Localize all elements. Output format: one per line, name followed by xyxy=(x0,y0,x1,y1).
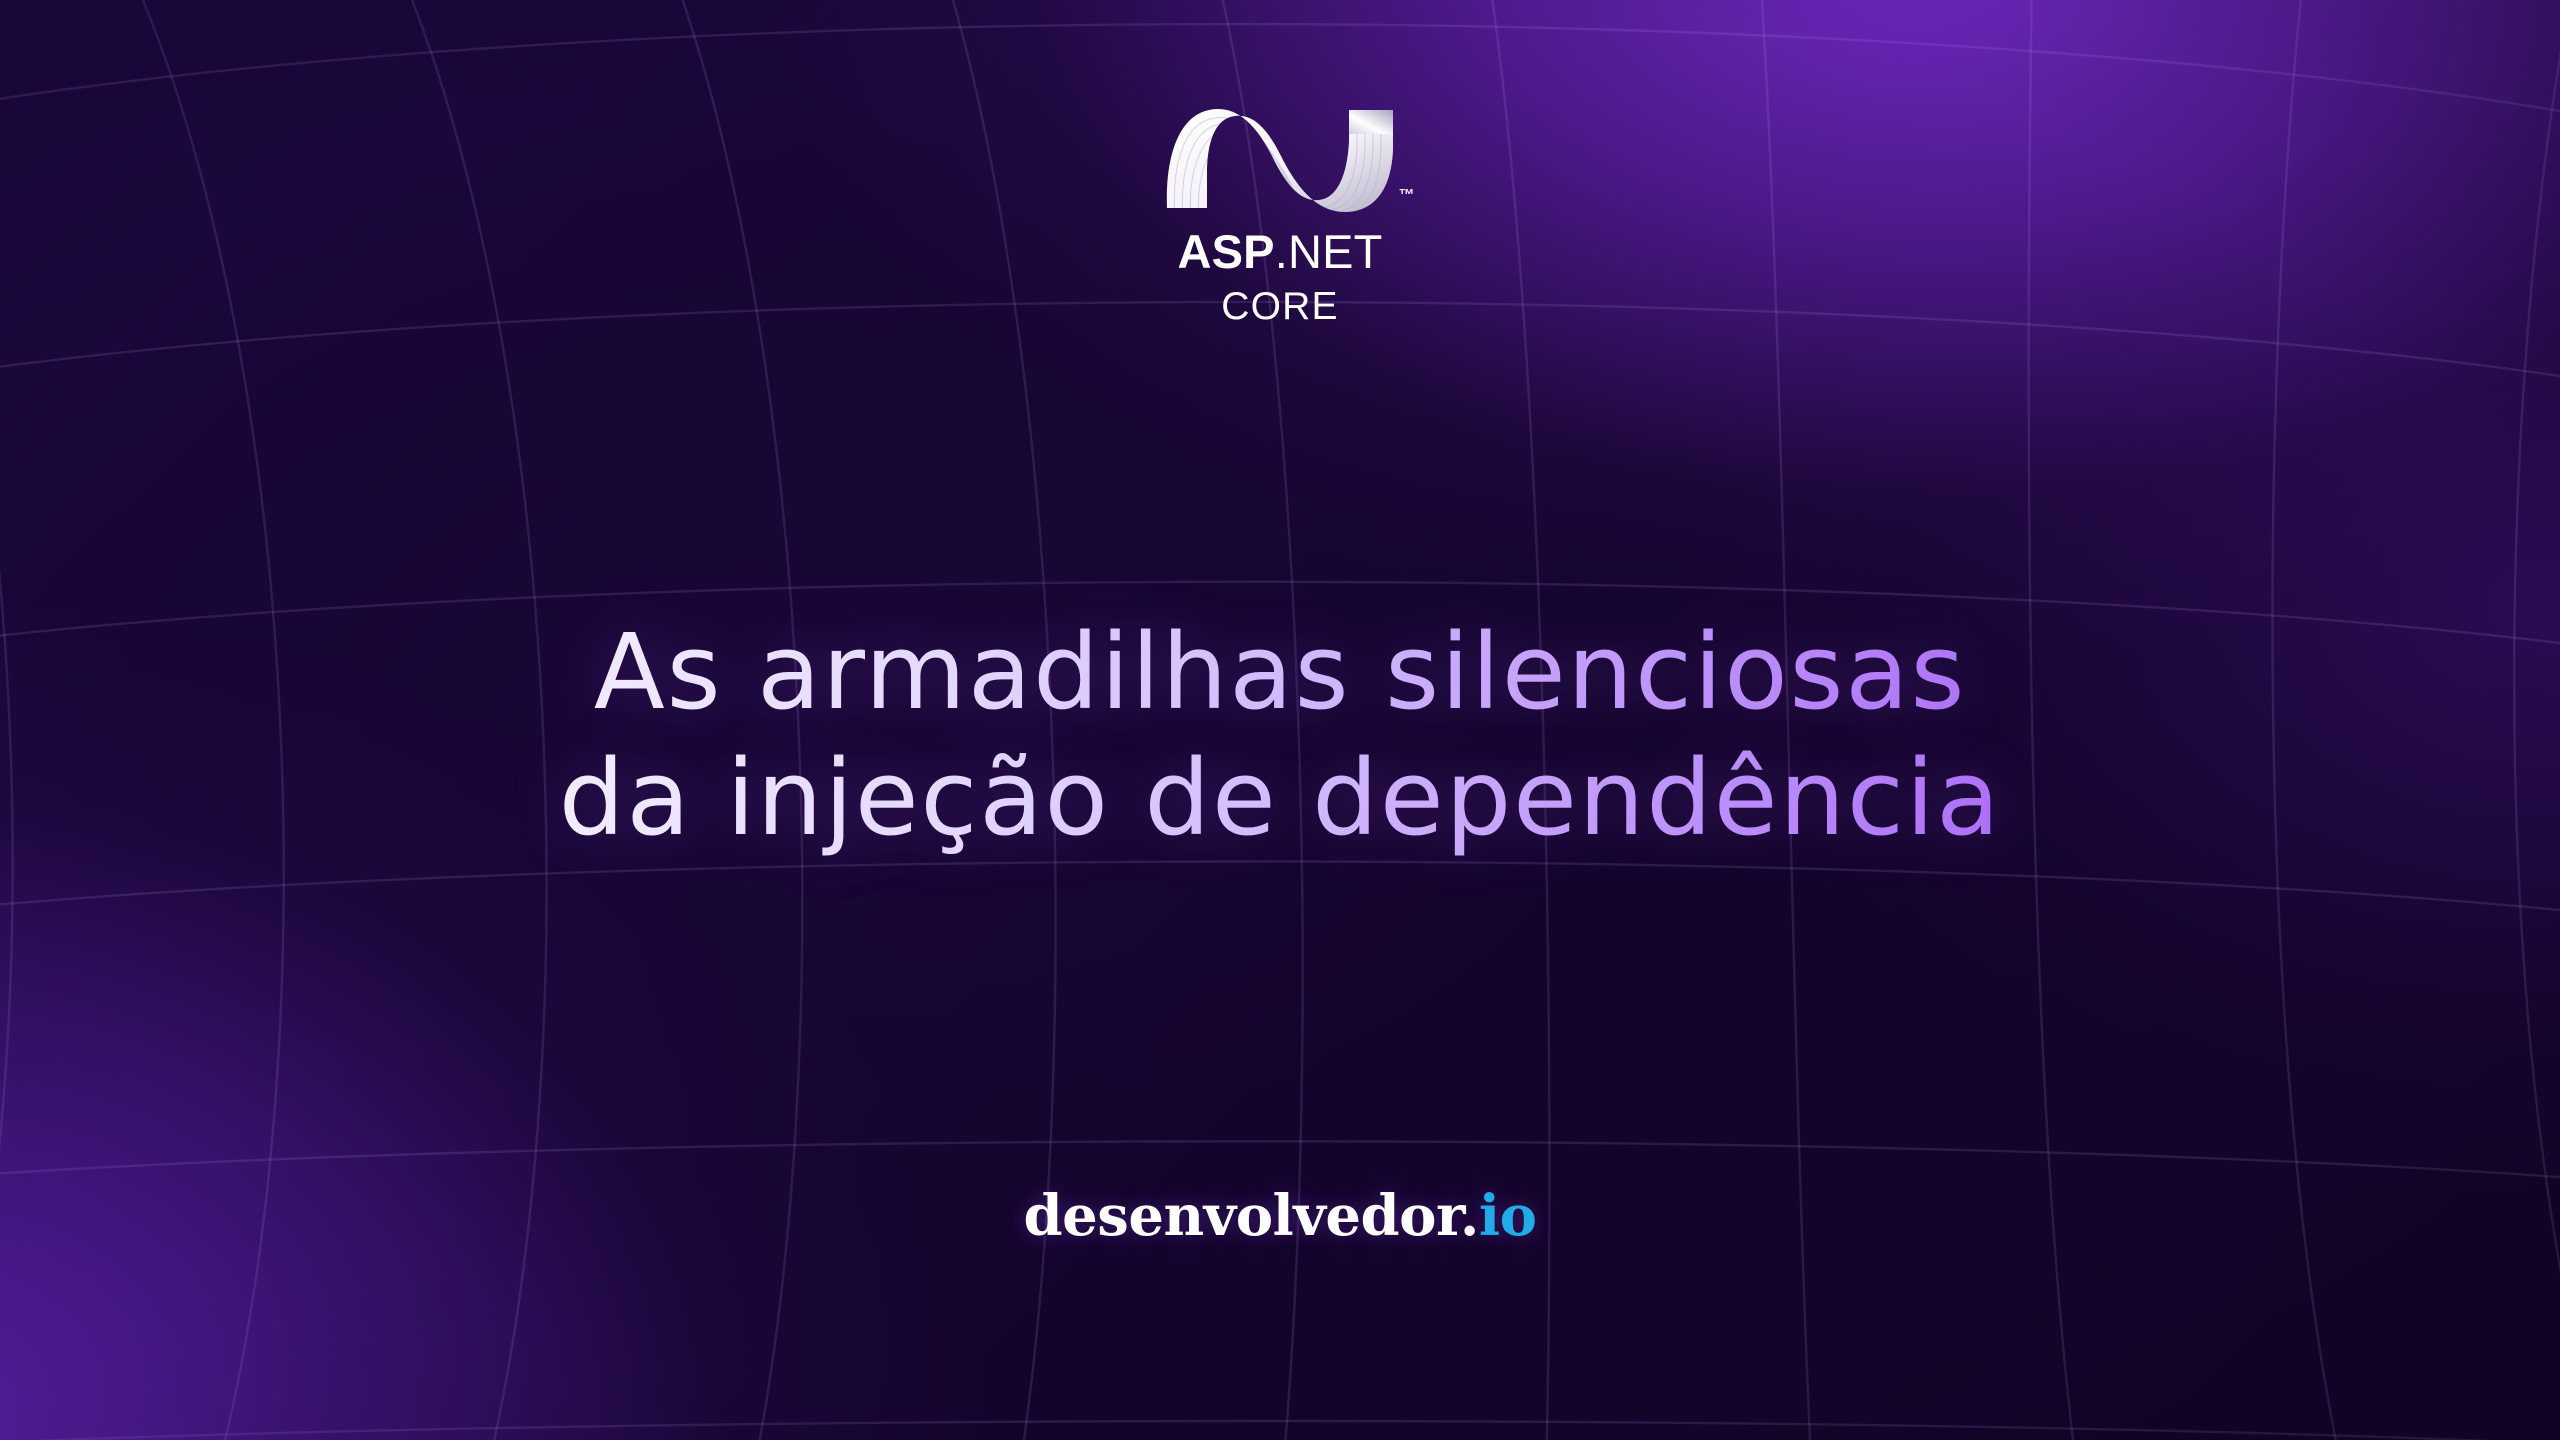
headline-line-2: da injeção de dependência xyxy=(120,736,2440,862)
brand-logo: desenvolvedor.io xyxy=(0,1188,2560,1244)
aspnet-core-logo: ™ ASP.NET CORE xyxy=(1070,104,1490,326)
presentation-slide: ™ ASP.NET CORE As armadilhas silenciosas… xyxy=(0,0,2560,1440)
brand-name: desenvolvedor xyxy=(1024,1183,1460,1249)
dotnet-swoosh-icon xyxy=(1161,104,1399,214)
headline-line-1: As armadilhas silenciosas xyxy=(120,610,2440,736)
logo-mark-wrap: ™ xyxy=(1161,104,1399,214)
page-title: As armadilhas silenciosas da injeção de … xyxy=(0,610,2560,862)
trademark-symbol: ™ xyxy=(1399,188,1416,204)
brand-tld: io xyxy=(1479,1183,1537,1249)
brand-dot: . xyxy=(1460,1183,1479,1249)
logo-wordmark-net: .NET xyxy=(1275,225,1383,278)
logo-wordmark-asp: ASP xyxy=(1177,225,1274,278)
slide-content: ™ ASP.NET CORE As armadilhas silenciosas… xyxy=(0,0,2560,1440)
logo-wordmark-core: CORE xyxy=(1221,287,1338,326)
logo-wordmark: ASP.NET xyxy=(1177,228,1382,275)
